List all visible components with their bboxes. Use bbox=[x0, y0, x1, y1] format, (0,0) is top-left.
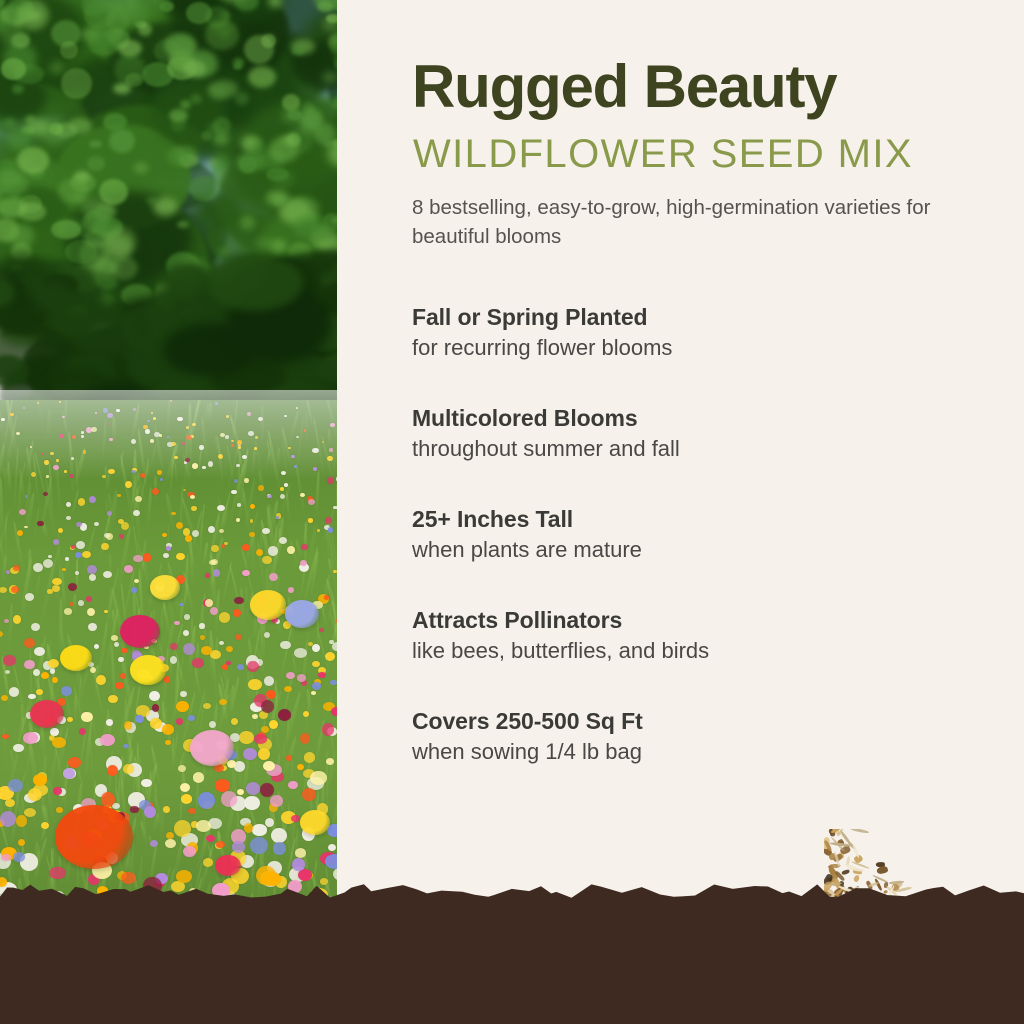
tagline: 8 bestselling, easy-to-grow, high-germin… bbox=[412, 193, 952, 251]
torn-soil-edge bbox=[0, 878, 1024, 904]
feature-title: Attracts Pollinators bbox=[412, 606, 972, 634]
feature-subtitle: when plants are mature bbox=[412, 535, 972, 565]
feature-title: Fall or Spring Planted bbox=[412, 303, 972, 331]
feature-title: Multicolored Blooms bbox=[412, 404, 972, 432]
feature-subtitle: for recurring flower blooms bbox=[412, 333, 972, 363]
feature-subtitle: when sowing 1/4 lb bag bbox=[412, 737, 972, 767]
meadow-flowers bbox=[0, 400, 337, 924]
page-title: Rugged Beauty bbox=[412, 57, 836, 117]
feature-item: Multicolored Blooms throughout summer an… bbox=[412, 404, 972, 505]
feature-subtitle: throughout summer and fall bbox=[412, 434, 972, 464]
feature-title: Covers 250-500 Sq Ft bbox=[412, 707, 972, 735]
product-infographic: Rugged Beauty WILDFLOWER SEED MIX 8 best… bbox=[0, 0, 1024, 1024]
feature-title: 25+ Inches Tall bbox=[412, 505, 972, 533]
footer-bar bbox=[0, 900, 1024, 1024]
wildflower-meadow-photo bbox=[0, 0, 337, 924]
feature-item: Covers 250-500 Sq Ft when sowing 1/4 lb … bbox=[412, 707, 972, 808]
feature-item: Attracts Pollinators like bees, butterfl… bbox=[412, 606, 972, 707]
content-panel: Rugged Beauty WILDFLOWER SEED MIX 8 best… bbox=[337, 0, 1024, 1024]
feature-subtitle: like bees, butterflies, and birds bbox=[412, 636, 972, 666]
page-subtitle: WILDFLOWER SEED MIX bbox=[413, 134, 913, 174]
feature-item: Fall or Spring Planted for recurring flo… bbox=[412, 303, 972, 404]
feature-list: Fall or Spring Planted for recurring flo… bbox=[412, 303, 972, 808]
feature-item: 25+ Inches Tall when plants are mature bbox=[412, 505, 972, 606]
torn-edge-shape bbox=[0, 878, 1024, 904]
